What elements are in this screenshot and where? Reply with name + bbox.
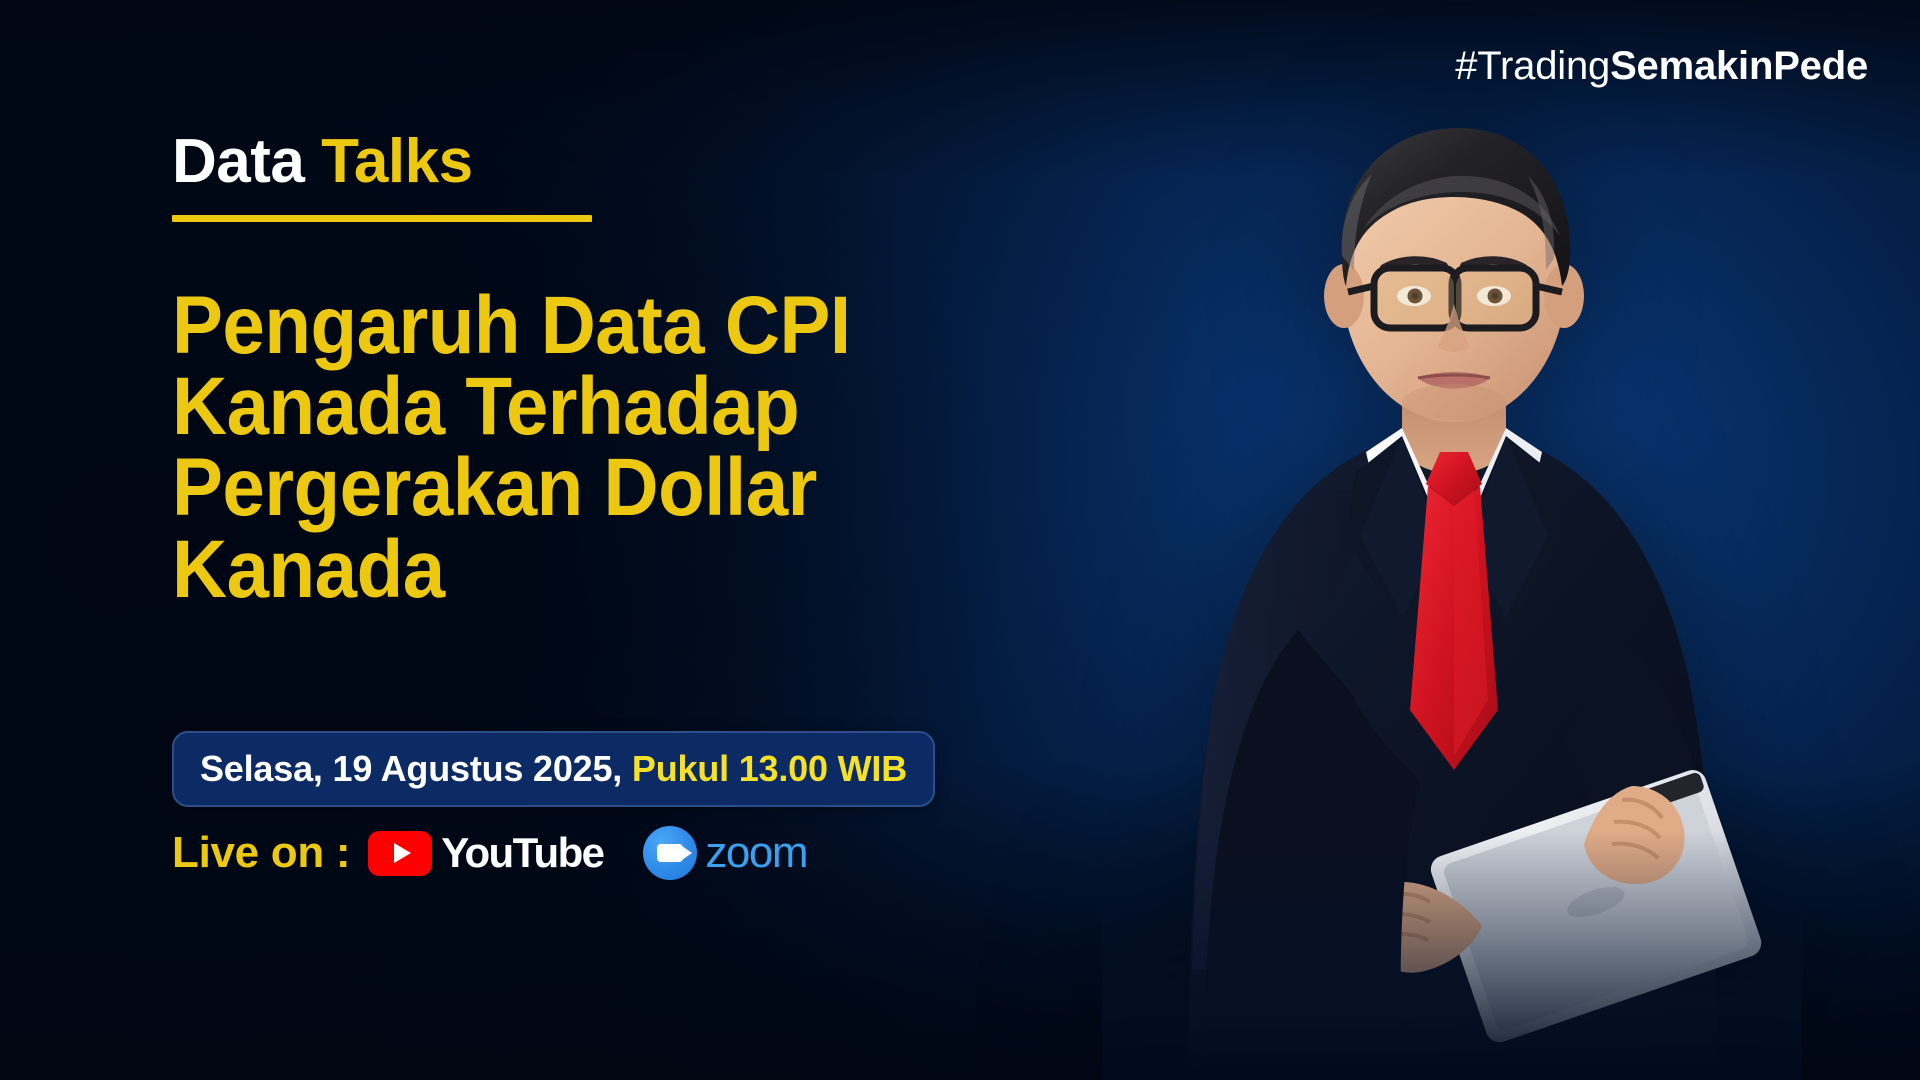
hashtag-bold-part: SemakinPede xyxy=(1610,44,1868,88)
hashtag-light-part: #Trading xyxy=(1455,44,1610,88)
webinar-headline: Pengaruh Data CPI Kanada Terhadap Perger… xyxy=(172,285,990,610)
webinar-poster: #TradingSemakinPede Data Talks Pengaruh … xyxy=(0,0,1920,1080)
camera-body-icon xyxy=(657,844,683,862)
program-title-word-talks: Talks xyxy=(321,127,472,196)
zoom-camera-icon xyxy=(643,826,697,880)
youtube-wordmark: YouTube xyxy=(441,829,603,877)
zoom-wordmark: zoom xyxy=(705,828,807,878)
headline-line-4: Kanada xyxy=(172,529,990,610)
headline-line-2: Kanada Terhadap xyxy=(172,366,990,447)
headline-line-1: Pengaruh Data CPI xyxy=(172,285,990,366)
schedule-time: Pukul 13.00 WIB xyxy=(632,748,907,789)
campaign-hashtag: #TradingSemakinPede xyxy=(1455,44,1868,89)
schedule-text: Selasa, 19 Agustus 2025, Pukul 13.00 WIB xyxy=(200,748,907,790)
schedule-date: Selasa, 19 Agustus 2025, xyxy=(200,748,622,789)
play-triangle-icon xyxy=(394,843,411,863)
content-column: Data Talks Pengaruh Data CPI Kanada Terh… xyxy=(172,0,1132,1080)
youtube-logo[interactable]: YouTube xyxy=(368,829,603,877)
live-on-row: Live on : YouTube zoom xyxy=(172,826,807,880)
schedule-badge: Selasa, 19 Agustus 2025, Pukul 13.00 WIB xyxy=(172,731,935,807)
brand-block: Data Talks xyxy=(172,131,592,222)
program-title: Data Talks xyxy=(172,131,592,193)
headline-line-3: Pergerakan Dollar xyxy=(172,447,990,528)
presenter-portrait xyxy=(1102,70,1802,1080)
program-title-word-data: Data xyxy=(172,127,304,196)
title-underline-rule xyxy=(172,215,592,222)
youtube-play-icon xyxy=(368,831,432,876)
live-on-label: Live on : xyxy=(172,828,350,878)
zoom-logo[interactable]: zoom xyxy=(643,826,807,880)
